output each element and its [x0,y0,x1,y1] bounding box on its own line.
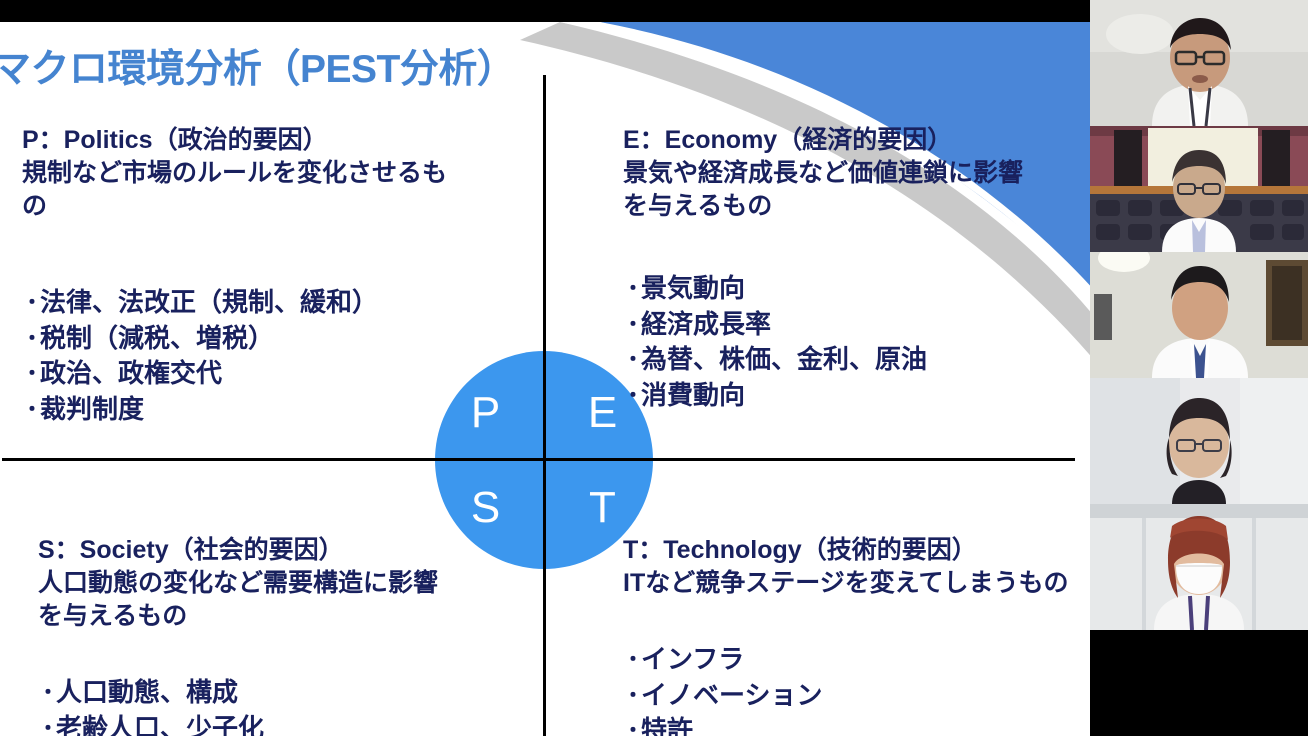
list-item: 法律、法改正（規制、緩和） [22,285,522,321]
participant-tile-5[interactable] [1090,504,1308,630]
screen-share-window: マクロ環境分析（PEST分析） P E S T P：Politics（政治的要因… [0,0,1308,736]
quadrant-technology-heading: T：Technology（技術的要因） ITなど競争ステージを変えてしまうもの [623,534,1093,600]
quadrant-economy: E：Economy（経済的要因） 景気や経済成長など価値連鎖に影響 を与えるもの… [623,124,1093,413]
quadrant-society-heading: S：Society（社会的要因） 人口動態の変化など需要構造に影響 を与えるもの [38,534,538,633]
list-item: 為替、株価、金利、原油 [623,342,1093,378]
quadrant-society: S：Society（社会的要因） 人口動態の変化など需要構造に影響 を与えるもの… [38,534,538,736]
list-item: 政治、政権交代 [22,356,522,392]
participant-video-sidebar [1090,0,1308,736]
page-title: マクロ環境分析（PEST分析） [0,38,515,94]
list-item: インフラ [623,642,1093,678]
list-item: 裁判制度 [22,392,522,428]
quadrant-politics: P：Politics（政治的要因） 規制など市場のルールを変化させるも の 法律… [22,124,522,427]
quadrant-technology: T：Technology（技術的要因） ITなど競争ステージを変えてしまうもの … [623,534,1093,736]
webcam-feed-icon [1090,252,1308,378]
participant-tile-1[interactable] [1090,0,1308,126]
list-item: 消費動向 [623,378,1093,414]
list-item: 景気動向 [623,271,1093,307]
participant-tile-4[interactable] [1090,378,1308,504]
webcam-feed-icon [1090,126,1308,252]
list-item: 税制（減税、増税） [22,321,522,357]
participant-tile-3[interactable] [1090,252,1308,378]
participant-tile-2[interactable] [1090,126,1308,252]
quadrant-politics-bullets: 法律、法改正（規制、緩和） 税制（減税、増税） 政治、政権交代 裁判制度 [22,285,522,427]
horizontal-divider-overlay [435,458,653,461]
quadrant-technology-bullets: インフラ イノベーション 特許 [623,642,1093,736]
list-item: 人口動態、構成 [38,675,538,711]
list-item: 経済成長率 [623,307,1093,343]
quadrant-economy-bullets: 景気動向 経済成長率 為替、株価、金利、原油 消費動向 [623,271,1093,413]
list-item: 特許 [623,713,1093,736]
quadrant-society-bullets: 人口動態、構成 老齢人口、少子化 [38,675,538,736]
presentation-slide: マクロ環境分析（PEST分析） P E S T P：Politics（政治的要因… [0,22,1122,736]
list-item: 老齢人口、少子化 [38,711,538,736]
webcam-feed-icon [1090,0,1308,126]
quadrant-politics-heading: P：Politics（政治的要因） 規制など市場のルールを変化させるも の [22,124,522,223]
webcam-feed-icon [1090,504,1308,630]
list-item: イノベーション [623,678,1093,714]
quadrant-economy-heading: E：Economy（経済的要因） 景気や経済成長など価値連鎖に影響 を与えるもの [623,124,1093,223]
webcam-feed-icon [1090,378,1308,504]
